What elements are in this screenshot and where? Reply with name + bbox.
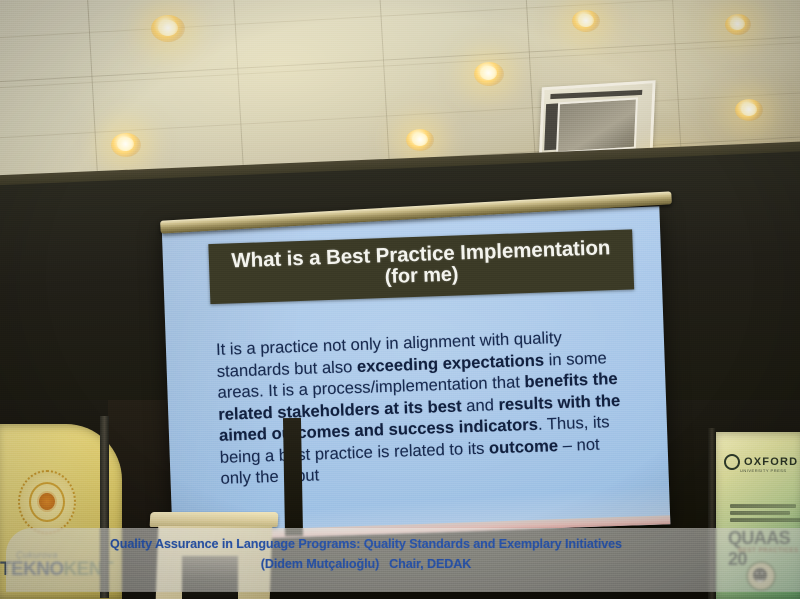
banner-right-line-2 (730, 511, 790, 515)
slide-body-run-7: outcome (489, 436, 559, 457)
caption-speaker-role: Chair, DEDAK (389, 557, 471, 571)
banner-right-text-lines (730, 504, 800, 525)
conference-room-photo: What is a Best Practice Implementation (… (0, 0, 800, 599)
slide-body-text: It is a practice not only in alignment w… (216, 325, 633, 490)
ac-vent-grille (556, 97, 638, 153)
projected-slide: What is a Best Practice Implementation (… (162, 206, 671, 541)
oxford-wordmark: OXFORD (744, 456, 798, 468)
oxford-subtitle: UNIVERSITY PRESS (740, 468, 787, 473)
turkish-state-emblem-icon (18, 470, 76, 534)
oxford-ring-icon (724, 454, 740, 470)
caption-text-block: Quality Assurance in Language Programs: … (6, 528, 726, 574)
slide-title-banner: What is a Best Practice Implementation (… (208, 229, 634, 303)
lectern-top (150, 512, 279, 527)
slide-body-run-4: and (461, 395, 499, 415)
banner-right-line-1 (730, 504, 796, 508)
caption-speaker-name: (Didem Mutçalıoğlu) (261, 557, 379, 571)
speaker-stand (283, 418, 303, 536)
banner-right-line-3 (730, 518, 800, 522)
caption-line-2: (Didem Mutçalıoğlu)Chair, DEDAK (6, 555, 726, 575)
caption-line-1: Quality Assurance in Language Programs: … (6, 535, 726, 555)
caption-overlay-band: Quality Assurance in Language Programs: … (6, 528, 800, 592)
projection-screen: What is a Best Practice Implementation (… (162, 206, 671, 541)
